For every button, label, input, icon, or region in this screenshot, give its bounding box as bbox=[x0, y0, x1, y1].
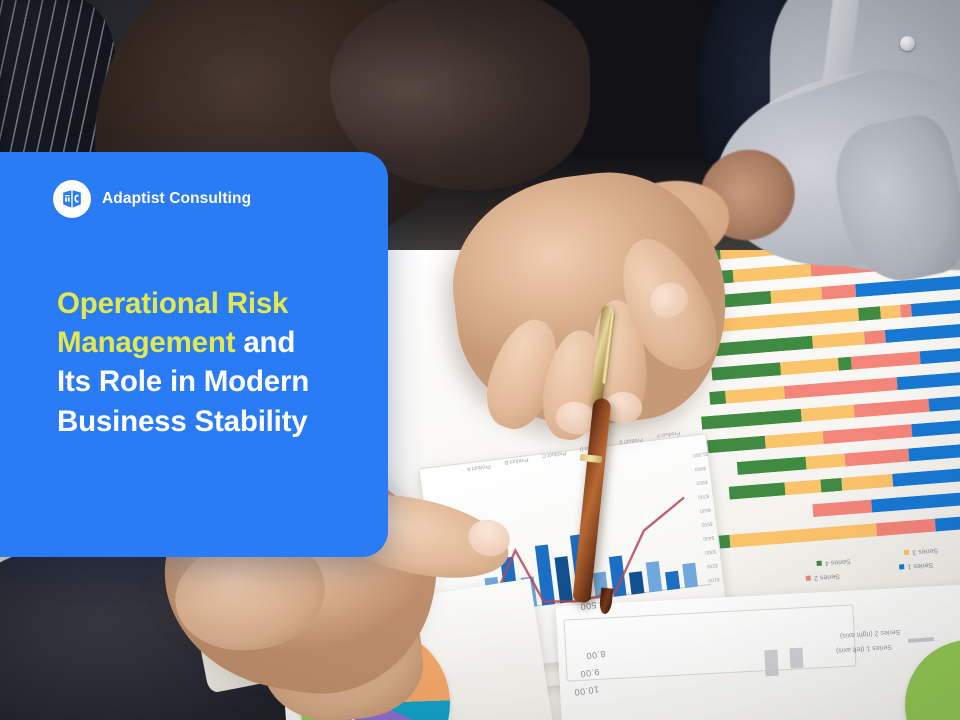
poster-canvas: 1 0.8 0.6 0.4 bbox=[0, 0, 960, 720]
page-title: Operational Risk Management and Its Role… bbox=[57, 284, 373, 441]
headline-accent-line1: Operational Risk bbox=[57, 287, 288, 320]
mini-bar bbox=[789, 648, 803, 669]
headline-plain-line4: Business Stability bbox=[57, 405, 308, 438]
brand-name: Adaptist Consulting bbox=[102, 190, 251, 208]
ac-monogram-shield-icon bbox=[53, 180, 91, 218]
shirt-button-icon bbox=[900, 36, 915, 51]
headline-plain-line3: Its Role in Modern bbox=[57, 365, 309, 398]
mini-bar bbox=[764, 650, 778, 677]
brand-lockup[interactable]: Adaptist Consulting bbox=[53, 180, 251, 218]
headline-plain-and: and bbox=[235, 326, 295, 359]
headline-accent-line2: Management bbox=[57, 326, 235, 359]
